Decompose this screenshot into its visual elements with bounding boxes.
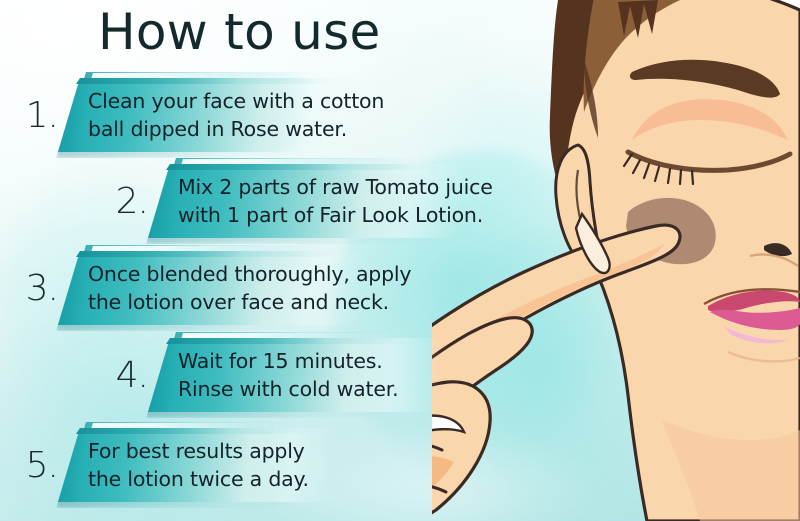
step-text-line2: with 1 part of Fair Look Lotion. bbox=[178, 201, 493, 229]
step-text-line2: the lotion over face and neck. bbox=[88, 288, 411, 316]
poster-canvas: How to use 1. Clean your face with a cot… bbox=[0, 0, 800, 521]
step-text-line2: ball dipped in Rose water. bbox=[88, 115, 384, 143]
step-item-1: 1. Clean your face with a cotton ball di… bbox=[14, 78, 374, 152]
step-text-line2: the lotion twice a day. bbox=[88, 465, 309, 493]
step-number: 4. bbox=[104, 338, 148, 412]
step-text: Once blended thoroughly, apply the lotio… bbox=[88, 254, 411, 322]
step-text-line2: Rinse with cold water. bbox=[178, 375, 398, 403]
step-text-line1: For best results apply bbox=[88, 437, 309, 465]
step-item-2: 2. Mix 2 parts of raw Tomato juice with … bbox=[104, 164, 474, 238]
step-number: 3. bbox=[14, 251, 58, 325]
step-number: 5. bbox=[14, 428, 58, 502]
step-text-line1: Once blended thoroughly, apply bbox=[88, 260, 411, 288]
step-number: 2. bbox=[104, 164, 148, 238]
step-banner: For best results apply the lotion twice … bbox=[58, 428, 344, 502]
step-item-3: 3. Once blended thoroughly, apply the lo… bbox=[14, 251, 374, 325]
step-text-line1: Clean your face with a cotton bbox=[88, 87, 384, 115]
step-banner: Wait for 15 minutes. Rinse with cold wat… bbox=[148, 338, 448, 412]
step-text: Mix 2 parts of raw Tomato juice with 1 p… bbox=[178, 167, 493, 235]
page-title: How to use bbox=[98, 6, 381, 59]
step-text: For best results apply the lotion twice … bbox=[88, 431, 309, 499]
step-item-5: 5. For best results apply the lotion twi… bbox=[14, 428, 354, 502]
step-number: 1. bbox=[14, 78, 58, 152]
step-item-4: 4. Wait for 15 minutes. Rinse with cold … bbox=[104, 338, 454, 412]
step-banner: Once blended thoroughly, apply the lotio… bbox=[58, 251, 370, 325]
step-text: Clean your face with a cotton ball dippe… bbox=[88, 81, 384, 149]
step-text-line1: Mix 2 parts of raw Tomato juice bbox=[178, 173, 493, 201]
step-text-line1: Wait for 15 minutes. bbox=[178, 347, 398, 375]
hair-spikes bbox=[618, 0, 658, 38]
step-text: Wait for 15 minutes. Rinse with cold wat… bbox=[178, 341, 398, 409]
step-banner: Mix 2 parts of raw Tomato juice with 1 p… bbox=[148, 164, 472, 238]
woman-applying-lotion-illustration bbox=[432, 0, 800, 521]
step-banner: Clean your face with a cotton ball dippe… bbox=[58, 78, 364, 152]
